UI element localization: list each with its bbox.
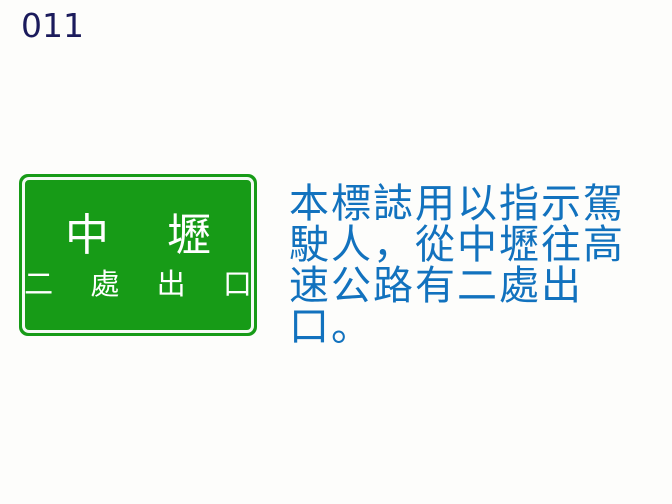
- plate-number-label: 011: [21, 6, 84, 46]
- road-sign-graphic: 中 壢 二 處 出 口: [19, 174, 257, 336]
- road-sign-face: 中 壢 二 處 出 口: [22, 177, 254, 333]
- sign-description: 本標誌用以指示駕駛人，從中壢往高速公路有二處出口。: [289, 184, 633, 348]
- page-root: 011 中 壢 二 處 出 口 本標誌用以指示駕駛人，從中壢往高速公路有二處出口…: [0, 0, 672, 504]
- road-sign-secondary-text: 二 處 出 口: [10, 267, 266, 301]
- road-sign-primary-text: 中 壢: [43, 211, 233, 261]
- sign-description-text: 本標誌用以指示駕駛人，從中壢往高速公路有二處出口。: [289, 184, 633, 348]
